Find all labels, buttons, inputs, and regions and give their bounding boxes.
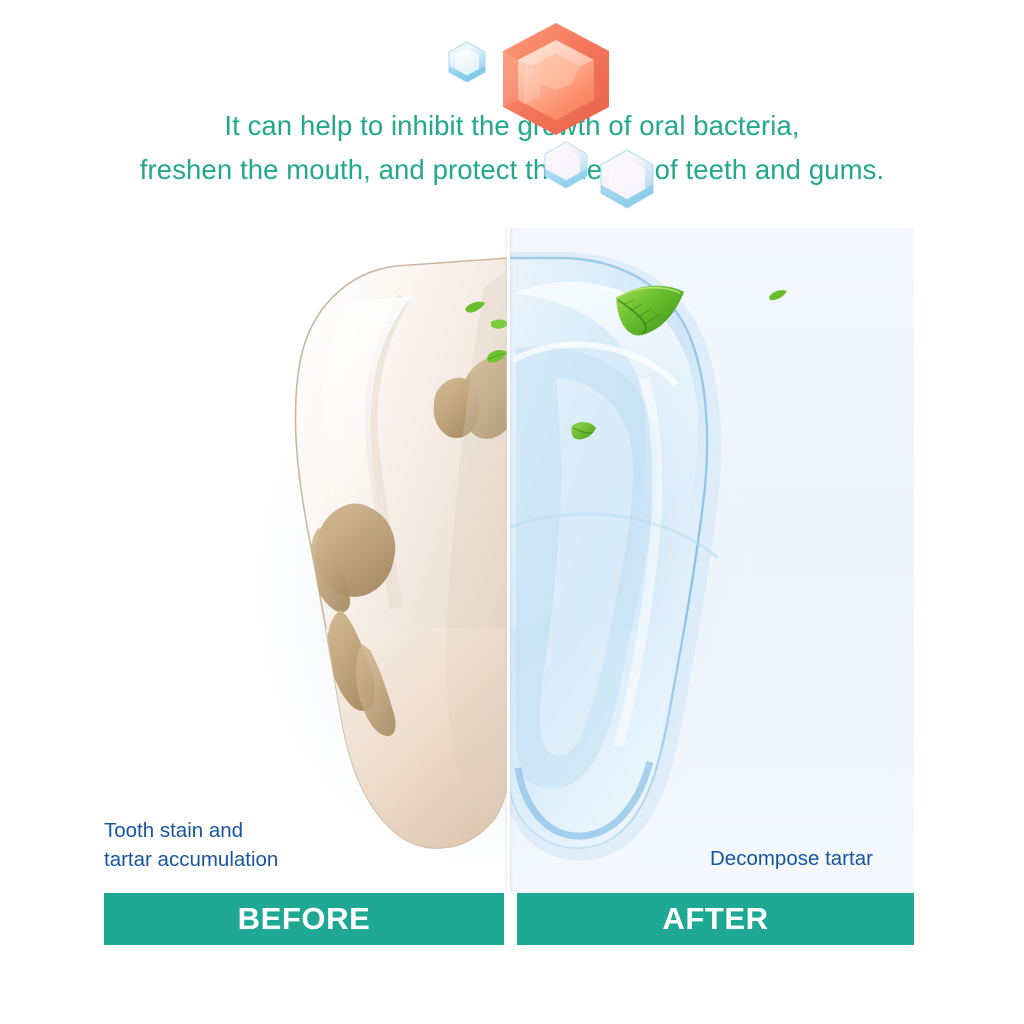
hexagon-crystal-icon — [598, 148, 656, 210]
panel-divider — [507, 228, 510, 893]
banner-label-after: AFTER — [517, 893, 914, 945]
hexagon-gem-icon — [494, 20, 618, 138]
mint-leaf-icon — [768, 288, 788, 300]
after-panel-background — [510, 228, 914, 893]
mint-leaf-icon — [486, 348, 508, 364]
before-panel-background — [104, 228, 508, 893]
headline-line-2: freshen the mouth, and protect the healt… — [0, 148, 1024, 192]
before-after-comparison — [104, 228, 914, 893]
before-after-banner: BEFORE AFTER — [104, 893, 914, 945]
banner-label-before: BEFORE — [104, 893, 504, 945]
after-caption-line-1: Decompose tartar — [710, 844, 873, 873]
hexagon-crystal-icon — [446, 40, 488, 84]
before-caption: Tooth stain and tartar accumulation — [104, 816, 278, 874]
hexagon-crystal-icon — [542, 140, 590, 190]
before-caption-line-2: tartar accumulation — [104, 845, 278, 874]
mint-leaf-icon — [571, 420, 597, 442]
before-caption-line-1: Tooth stain and — [104, 816, 278, 845]
mint-leaf-icon — [464, 300, 486, 314]
mint-leaf-icon — [614, 282, 686, 338]
after-caption: Decompose tartar — [710, 844, 873, 873]
